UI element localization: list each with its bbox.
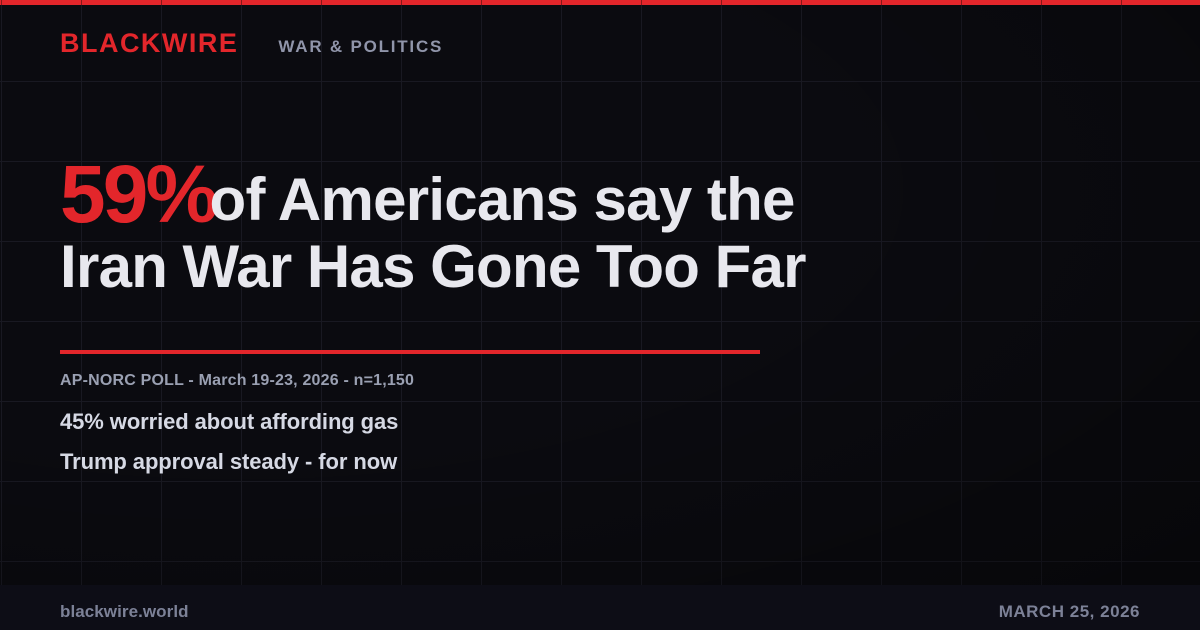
headline-stat: 59% xyxy=(60,149,216,240)
list-item: 45% worried about affording gas xyxy=(60,402,398,442)
footer-site-url[interactable]: blackwire.world xyxy=(60,602,189,622)
masthead: BLACKWIRE WAR & POLITICS xyxy=(60,30,443,57)
brand-logo[interactable]: BLACKWIRE xyxy=(60,30,238,57)
source-line: AP-NORC POLL - March 19-23, 2026 - n=1,1… xyxy=(60,370,414,391)
accent-divider xyxy=(60,350,760,354)
footer: blackwire.world MARCH 25, 2026 xyxy=(60,602,1140,622)
list-item: Trump approval steady - for now xyxy=(60,442,398,482)
bullet-list: 45% worried about affording gas Trump ap… xyxy=(60,402,398,482)
headline: 59%of Americans say the Iran War Has Gon… xyxy=(60,158,820,300)
social-card: BLACKWIRE WAR & POLITICS 59%of Americans… xyxy=(0,0,1200,630)
top-accent-bar-ticks xyxy=(0,0,1200,5)
card-content: BLACKWIRE WAR & POLITICS 59%of Americans… xyxy=(0,0,1200,630)
footer-date: MARCH 25, 2026 xyxy=(999,602,1140,622)
section-kicker: WAR & POLITICS xyxy=(278,38,443,55)
